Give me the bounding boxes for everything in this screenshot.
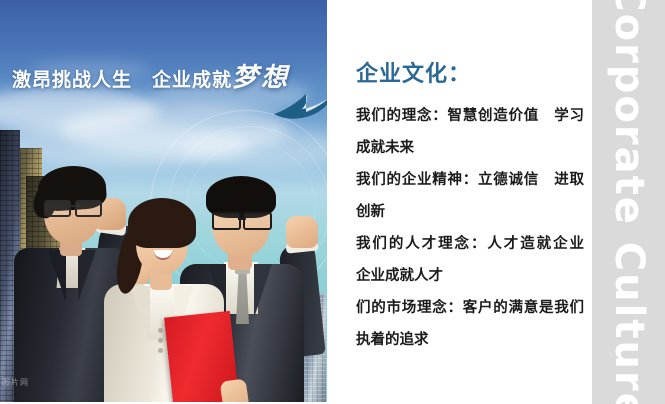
culture-paragraph: 我们的理念：智慧创造价值 学习成就未来 — [356, 100, 584, 164]
content-column: 企业文化： 我们的理念：智慧创造价值 学习成就未来 我们的企业精神：立德诚信 进… — [348, 0, 588, 404]
raised-fist — [286, 216, 318, 248]
lapel-right — [254, 264, 272, 318]
side-band-label: Corporate Culture — [609, 0, 649, 404]
page-root: 激昂挑战人生 企业成就梦想 图片网 企业文化： 我们的理念：智慧创造价值 学习成… — [0, 0, 665, 404]
button — [158, 338, 163, 343]
section-title: 企业文化： — [356, 56, 471, 88]
eyeglasses-icon — [44, 200, 102, 214]
seagull-icon — [272, 88, 327, 122]
culture-paragraph: 我们的人才理念：人才造就企业 企业成就人才 — [356, 228, 584, 292]
lapel-left — [48, 250, 66, 302]
person-woman-center — [96, 192, 232, 402]
button — [158, 328, 163, 333]
button — [158, 348, 163, 353]
culture-paragraph: 我们的企业精神：立德诚信 进取创新 — [356, 164, 584, 228]
hair — [128, 198, 196, 248]
lapel-right — [78, 250, 96, 302]
lapel-left — [130, 286, 150, 344]
cloud — [30, 60, 150, 80]
watermark: 图片网 — [2, 377, 29, 388]
culture-paragraph: 们的市场理念：客户的满意是我们执着的追求 — [356, 292, 584, 356]
culture-text-block: 我们的理念：智慧创造价值 学习成就未来 我们的企业精神：立德诚信 进取创新 我们… — [356, 100, 584, 356]
banner-photo: 激昂挑战人生 企业成就梦想 图片网 — [0, 0, 327, 402]
side-band: Corporate Culture — [592, 0, 665, 404]
